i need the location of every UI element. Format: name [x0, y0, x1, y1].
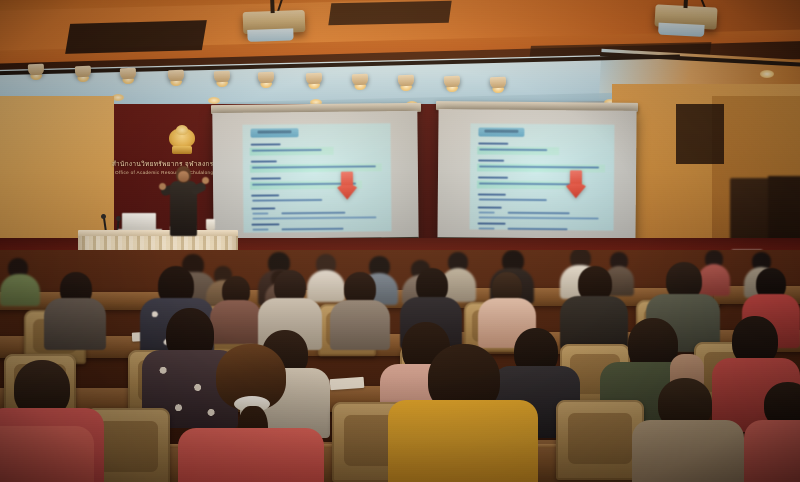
- slide-heading: [478, 222, 506, 224]
- audience-person: [0, 420, 94, 482]
- slide-text-line: [253, 232, 349, 233]
- person-torso: [388, 400, 538, 482]
- projector-lens: [247, 28, 293, 42]
- arrow-head: [335, 185, 359, 200]
- track-light: [444, 76, 460, 89]
- track-light: [28, 64, 44, 77]
- handout-paper: [330, 377, 365, 390]
- emblem-base: [172, 146, 192, 154]
- audience-chair: [556, 400, 644, 480]
- down-arrow-icon: [564, 170, 588, 198]
- presenter-face: [178, 171, 189, 182]
- projector-lens: [658, 23, 705, 37]
- slide-text-line: [479, 211, 495, 213]
- slide-title-text: [485, 130, 518, 133]
- slide-heading: [251, 207, 275, 209]
- presenter-left-hand: [159, 183, 166, 190]
- track-light: [258, 72, 274, 85]
- slide-text-line: [252, 212, 268, 214]
- slide-heading: [478, 142, 508, 144]
- presentation-slide: [242, 123, 391, 233]
- slide-heading: [478, 176, 508, 178]
- slide-title-pill: [250, 128, 298, 138]
- track-light: [214, 71, 230, 84]
- track-light: [490, 77, 506, 90]
- audience-area: [0, 250, 800, 482]
- projector-right: [654, 4, 717, 29]
- slide-text-line: [479, 198, 547, 201]
- person-torso: [632, 420, 744, 482]
- track-light: [352, 74, 368, 87]
- slide-title-text: [257, 131, 292, 134]
- ceiling-dark-panel-2: [328, 1, 451, 26]
- slide-text-line: [252, 199, 322, 202]
- downlight: [208, 97, 220, 104]
- slide-text-line: [252, 216, 376, 219]
- slide-title-pill: [478, 127, 524, 136]
- projection-screen-right: [437, 109, 636, 245]
- ceiling-dark-panel-1: [65, 20, 207, 54]
- track-light: [306, 73, 322, 86]
- projector-mount: [270, 0, 275, 13]
- arrow-stem: [341, 172, 353, 187]
- slide-heading: [251, 160, 277, 162]
- microphone-head: [101, 214, 106, 219]
- slide-heading: [251, 194, 279, 196]
- person-torso: [178, 428, 324, 482]
- downlight: [760, 70, 774, 78]
- slide-heading: [251, 143, 281, 146]
- presenter: [160, 166, 208, 236]
- track-light: [75, 66, 91, 79]
- slide-text-line: [479, 227, 495, 229]
- person-torso: [44, 298, 106, 350]
- person-torso: [744, 420, 800, 482]
- slide-text-line: [282, 228, 344, 231]
- slide-text-line: [508, 228, 568, 231]
- audience-person: [178, 344, 324, 482]
- slide-text-line: [253, 228, 269, 230]
- audience-person: [632, 378, 744, 482]
- slide-heading: [251, 223, 279, 225]
- photo-scene: สำนักงานวิทยทรัพยากร จุฬาลงกรณ์มหาวิทยาล…: [0, 0, 800, 482]
- slide-text-line: [360, 231, 380, 232]
- projection-screen-left: [212, 111, 418, 245]
- track-light: [120, 68, 136, 81]
- slide-heading: [251, 177, 281, 180]
- slide-heading: [478, 206, 502, 208]
- slide-text-line: [508, 212, 570, 215]
- audience-person: [0, 258, 40, 300]
- down-arrow-icon: [335, 172, 359, 200]
- arrow-head: [564, 184, 588, 199]
- slide-heading: [478, 159, 504, 161]
- slide-text-line: [479, 216, 599, 219]
- presenter-right-hand: [202, 177, 209, 184]
- audience-person: [44, 272, 106, 342]
- slide-text-line: [281, 212, 345, 215]
- person-torso: [0, 274, 40, 306]
- projector-mount: [683, 0, 688, 8]
- emblem-crown: [176, 125, 188, 135]
- slide-heading: [478, 193, 506, 195]
- university-emblem-icon: [165, 128, 199, 156]
- audience-person: [388, 344, 538, 482]
- arrow-stem: [570, 170, 582, 185]
- right-wall-recess: [676, 104, 724, 164]
- microphone-head: [116, 216, 121, 221]
- person-torso: [0, 426, 94, 482]
- track-light: [398, 75, 414, 88]
- projector-left: [243, 10, 306, 34]
- presentation-slide: [470, 123, 615, 230]
- track-light: [168, 70, 184, 83]
- audience-person: [744, 382, 800, 482]
